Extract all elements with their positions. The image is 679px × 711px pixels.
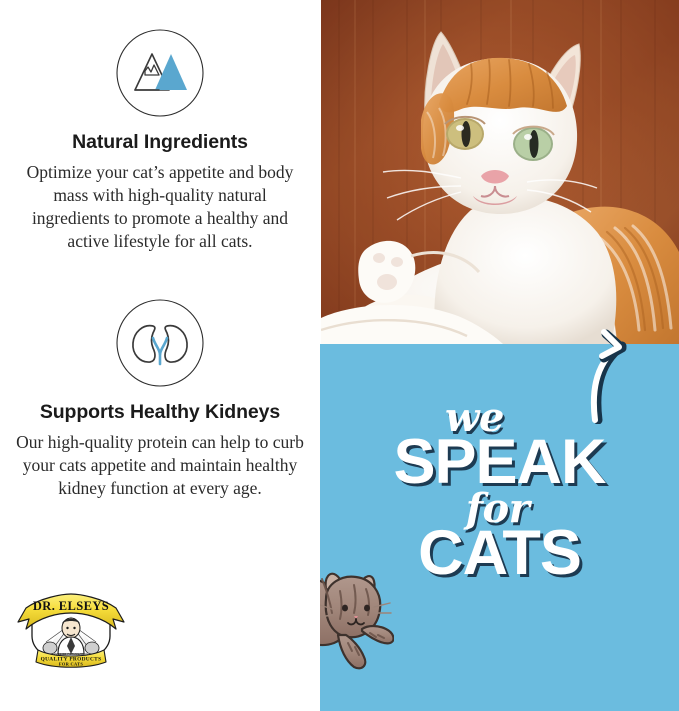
feature-title: Natural Ingredients bbox=[0, 132, 320, 153]
feature-supports-healthy-kidneys: Supports Healthy Kidneys Our high-qualit… bbox=[0, 298, 320, 500]
cat-photo bbox=[321, 0, 679, 344]
feature-natural-ingredients: Natural Ingredients Optimize your cat’s … bbox=[0, 28, 320, 252]
feature-body: Our high-quality protein can help to cur… bbox=[10, 431, 310, 499]
kidneys-icon bbox=[115, 298, 205, 388]
svg-text:PRECISE FORMULATION: PRECISE FORMULATION bbox=[54, 652, 89, 656]
cat-photo-image bbox=[321, 0, 679, 344]
feature-body: Optimize your cat’s appetite and body ma… bbox=[10, 161, 310, 252]
promo-banner: we SPEAK for CATS bbox=[0, 0, 679, 711]
feature-title: Supports Healthy Kidneys bbox=[0, 402, 320, 423]
logo-brand: DR. ELSEYS bbox=[33, 599, 109, 613]
dr-elseys-logo: DR. ELSEYS PRECISE FORMULATION QUALITY P… bbox=[12, 592, 130, 668]
headline-speak: SPEAK bbox=[320, 434, 679, 491]
features-column: Natural Ingredients Optimize your cat’s … bbox=[0, 0, 320, 711]
mountain-icon bbox=[115, 28, 205, 118]
svg-text:FOR CATS: FOR CATS bbox=[59, 662, 83, 667]
